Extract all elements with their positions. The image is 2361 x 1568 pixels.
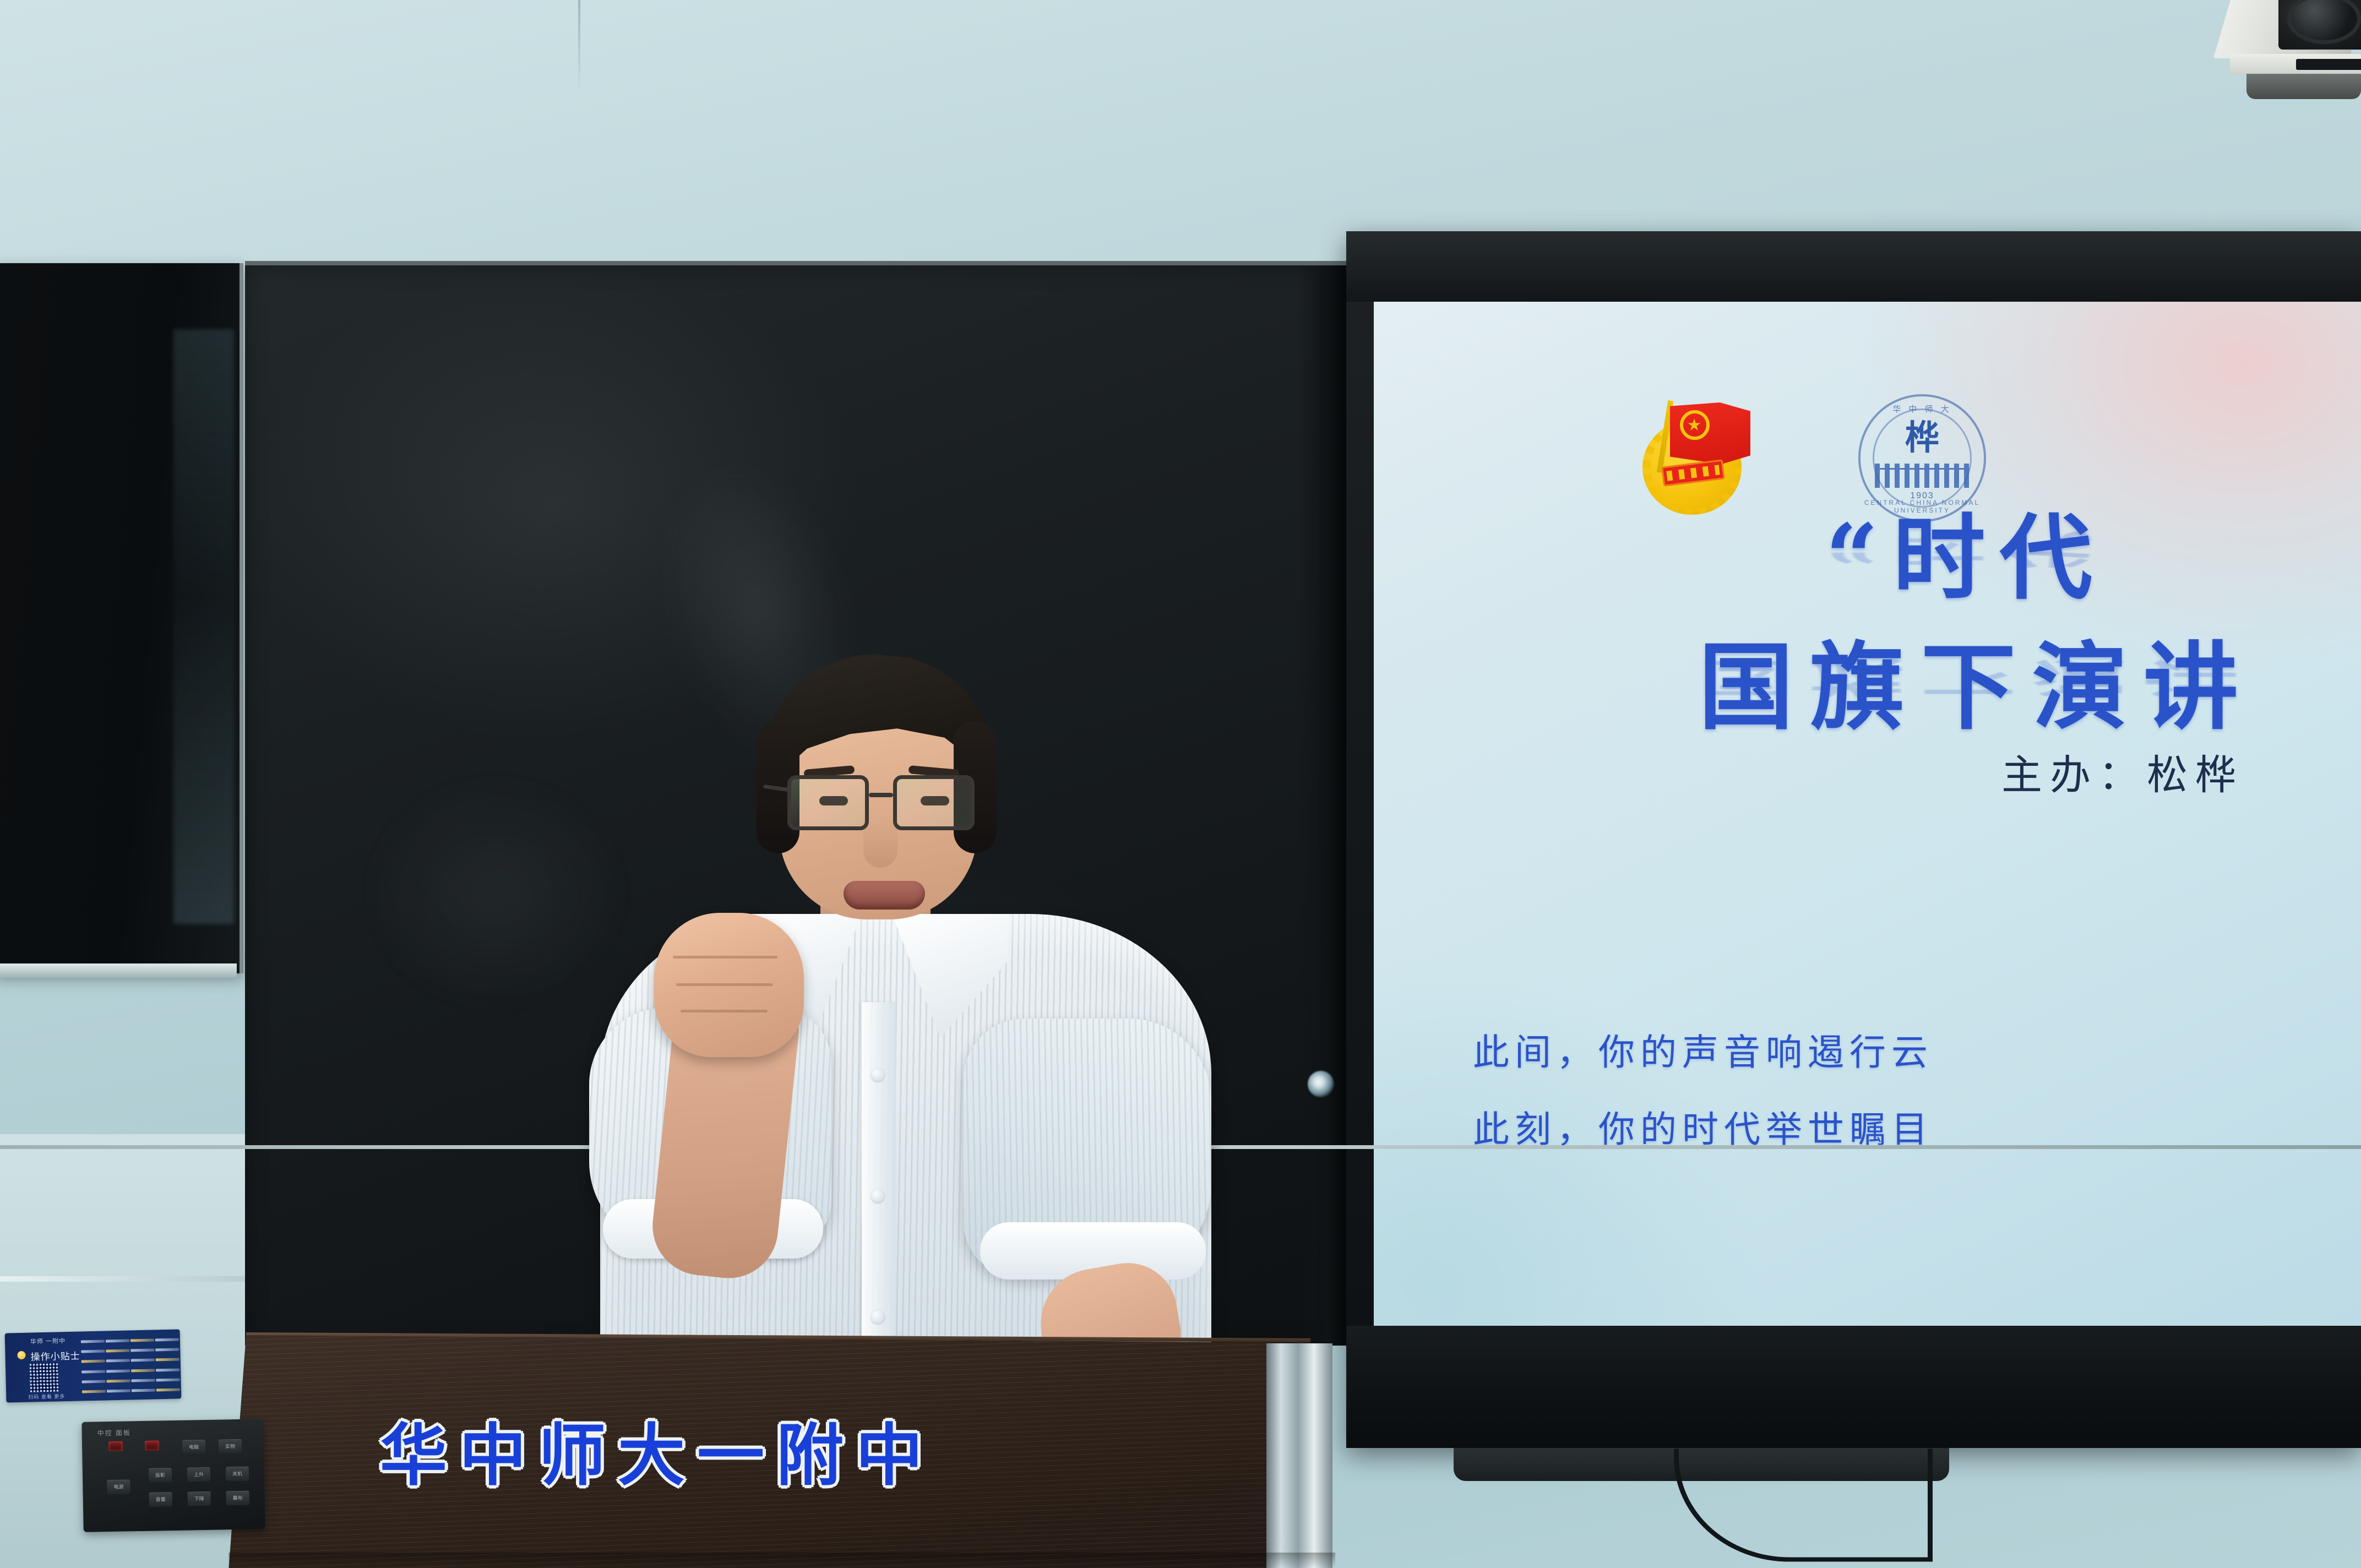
seal-top-text: 华 中 师 大 [1858, 403, 1986, 415]
control-key-down[interactable]: 下降 [188, 1491, 211, 1506]
shirt-button [871, 1189, 884, 1202]
star-icon [1680, 410, 1710, 440]
youth-league-emblem-icon [1638, 398, 1755, 515]
sticker-instruction-grid [81, 1335, 180, 1396]
knuckle-line [676, 983, 773, 986]
control-key-volume[interactable]: 音量 [149, 1492, 172, 1507]
sticker-footer: 扫码 查看 更多 [28, 1392, 65, 1401]
sticker-heading: 操作小贴士 [30, 1348, 80, 1363]
seal-center-mark: 桦 [1905, 421, 1939, 455]
nose [863, 815, 897, 868]
desk-edge [0, 1276, 259, 1282]
knuckle-line [681, 1010, 768, 1012]
control-key-doc[interactable]: 实物 [219, 1439, 242, 1454]
ptz-camera-icon [2213, 0, 2361, 94]
instruction-sticker: 华师 一附中 操作小贴士 扫码 查看 更多 [5, 1329, 182, 1402]
raised-fist [654, 913, 804, 1057]
display-bottom-bezel [1346, 1326, 2361, 1448]
qr-code-icon[interactable] [30, 1363, 59, 1392]
display-bezel-top [1346, 231, 2361, 302]
control-key-power[interactable]: 电源 [107, 1479, 130, 1494]
podium-shadow [229, 1553, 1335, 1568]
ptz-base [2246, 74, 2361, 99]
monitor-glare [173, 329, 234, 924]
mouth [844, 881, 925, 910]
lens-left [787, 775, 869, 830]
shirt-button [871, 1310, 884, 1324]
lens-right [893, 775, 975, 830]
glasses-bridge [869, 793, 893, 797]
control-key-screen[interactable]: 幕布 [226, 1491, 249, 1506]
ceiling-seam [578, 0, 580, 94]
control-key-pc[interactable]: 电脑 [182, 1440, 205, 1455]
power-led [108, 1441, 123, 1451]
sticker-brand: 华师 一附中 [30, 1336, 66, 1346]
slide-subtitle: 主办：松桦 [2001, 742, 2244, 801]
control-key-projector[interactable]: 投影 [149, 1468, 172, 1483]
slide-title-line1: “时代 [1825, 483, 2107, 617]
slide-title-line2: 国旗下演讲 [1699, 610, 2255, 748]
knuckle-line [673, 956, 777, 959]
projection-screen: 华 中 师 大 桦 1903 CENTRAL CHINA NORMAL UNIV… [1374, 302, 2361, 1326]
control-key-up[interactable]: 上升 [187, 1467, 210, 1482]
interactive-display[interactable]: 华 中 师 大 桦 1903 CENTRAL CHINA NORMAL UNIV… [1346, 231, 2361, 1448]
shirt-button [871, 1068, 884, 1081]
ptz-vent-slot [2296, 59, 2361, 70]
control-key-shutdown[interactable]: 关机 [226, 1467, 249, 1482]
podium-school-name: 华中师大一附中 [380, 1401, 935, 1499]
bullet-icon [17, 1351, 25, 1359]
central-control-panel[interactable]: 中控 面板 电脑 实物 电源 投影 音量 上升 下降 关机 幕布 [81, 1419, 265, 1532]
control-panel-title: 中控 面板 [97, 1428, 131, 1438]
status-led [145, 1440, 159, 1450]
left-wall-monitor [0, 263, 243, 973]
classroom-photo-scene: 华 中 师 大 桦 1903 CENTRAL CHINA NORMAL UNIV… [0, 0, 2361, 1568]
podium-chrome-post [1266, 1343, 1332, 1568]
camera-lens-icon [2278, 0, 2361, 50]
slide-body-line1: 此间，你的声音响遏行云 [1473, 1023, 1933, 1076]
monitor-rail [0, 963, 237, 978]
